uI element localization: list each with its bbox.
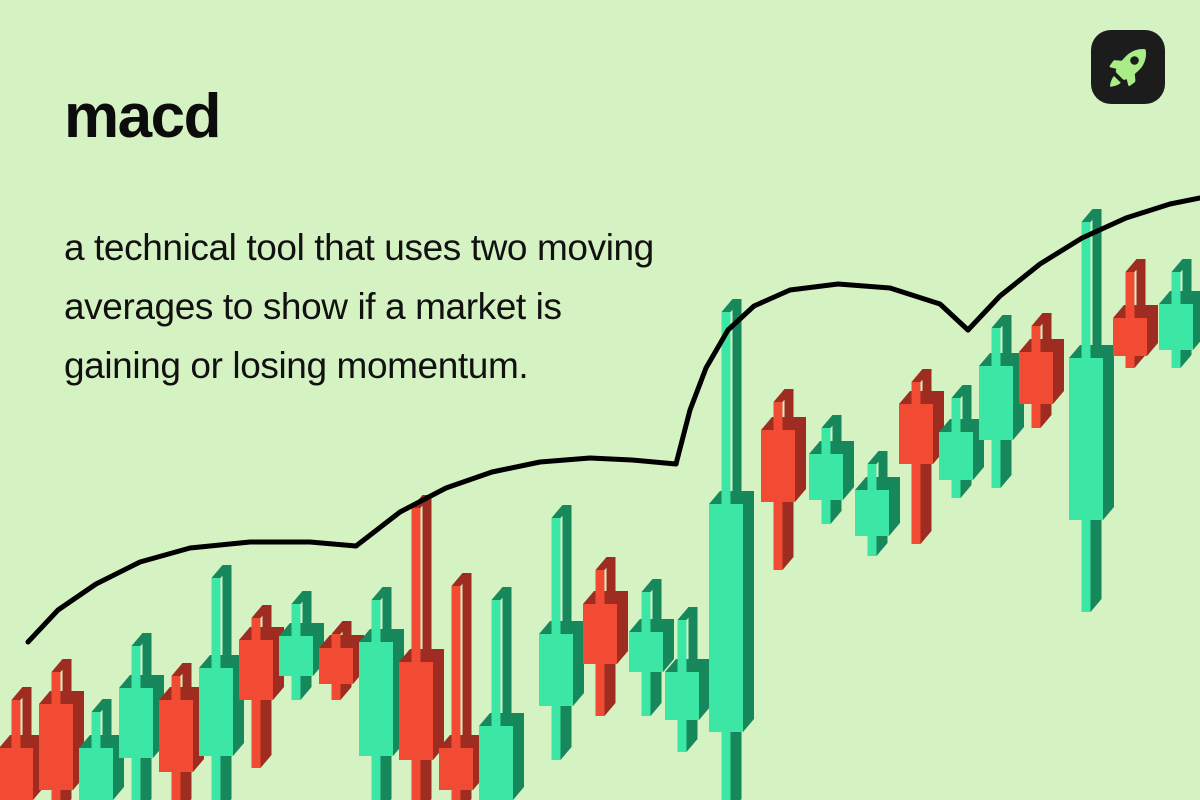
candle-face	[761, 430, 795, 502]
candle-face	[212, 756, 221, 800]
candle-face	[52, 672, 61, 704]
candle-face	[159, 700, 193, 772]
candle-face	[573, 621, 584, 706]
candle-face	[0, 748, 33, 800]
candle-face	[1082, 520, 1091, 612]
candle-face	[332, 634, 341, 648]
candle-face	[912, 382, 921, 404]
candle-face	[399, 662, 433, 760]
candle-face	[552, 518, 561, 634]
candle-face	[665, 672, 699, 720]
candle-face	[1019, 352, 1053, 404]
candle-face	[642, 592, 651, 632]
candle-face	[132, 758, 141, 800]
candle-face	[439, 748, 473, 790]
candle-face	[372, 756, 381, 800]
candle-face	[172, 676, 181, 700]
candle-face	[678, 620, 687, 672]
candle-face	[722, 732, 731, 800]
candle-face	[39, 704, 73, 790]
candle-face	[252, 618, 261, 640]
candle-face	[12, 700, 21, 748]
candle-face	[1032, 326, 1041, 352]
candle-face	[513, 713, 524, 800]
candle-face	[822, 428, 831, 454]
candle-face	[1103, 345, 1114, 520]
candle-face	[1069, 358, 1103, 520]
candle-face	[979, 366, 1013, 440]
candle-face	[503, 587, 512, 713]
candle-face	[479, 726, 513, 800]
candle-face	[132, 646, 141, 688]
candle-face	[596, 570, 605, 604]
candle-face	[822, 500, 831, 524]
candle-face	[1126, 272, 1135, 318]
signal-line-segment	[356, 458, 676, 546]
candle-face	[678, 720, 687, 752]
candle-face	[795, 417, 806, 502]
candle-face	[412, 508, 421, 662]
candle-face	[332, 684, 341, 700]
candle-face	[452, 586, 461, 748]
candle-face	[899, 404, 933, 464]
candle-face	[952, 480, 961, 498]
candle-face	[172, 772, 181, 800]
candle-face	[423, 495, 432, 649]
candle-face	[412, 760, 421, 800]
candle-face	[1091, 507, 1102, 612]
candlestick-chart	[0, 0, 1200, 800]
candle-face	[319, 648, 353, 684]
candle-face	[709, 504, 743, 732]
candle-face	[79, 748, 113, 800]
candle-face	[292, 604, 301, 636]
candle-face	[52, 790, 61, 800]
candle-face	[1113, 318, 1147, 356]
candle-face	[563, 505, 572, 621]
candle-face	[868, 536, 877, 556]
candle-face	[774, 402, 783, 430]
candle-face	[629, 632, 663, 672]
candle-face	[809, 454, 843, 500]
candle-face	[223, 565, 232, 655]
candle-face	[452, 790, 461, 800]
candle-face	[596, 664, 605, 716]
rocket-icon	[1105, 44, 1151, 90]
candle-face	[372, 600, 381, 642]
candle-face	[912, 464, 921, 544]
candle-face	[1082, 222, 1091, 358]
brand-logo[interactable]	[1091, 30, 1165, 104]
candle-face	[463, 573, 472, 735]
candle-face	[939, 432, 973, 480]
candle-face	[539, 634, 573, 706]
candle-face	[492, 600, 501, 726]
candle-face	[992, 328, 1001, 366]
candle-face	[855, 490, 889, 536]
candle-face	[642, 672, 651, 716]
candle-face	[119, 688, 153, 758]
candle-face	[199, 668, 233, 756]
candle-face	[1032, 404, 1041, 428]
candle-face	[252, 700, 261, 768]
candle-face	[433, 649, 444, 760]
candle-face	[1159, 304, 1193, 350]
candle-face	[292, 676, 301, 700]
candle-face	[1172, 350, 1181, 368]
candle-face	[552, 706, 561, 760]
candle-face	[279, 636, 313, 676]
candle-face	[992, 440, 1001, 488]
candle-face	[868, 464, 877, 490]
candle-face	[774, 502, 783, 570]
candle-face	[239, 640, 273, 700]
candle-face	[212, 578, 221, 668]
candle-face	[952, 398, 961, 432]
candle-face	[583, 604, 617, 664]
candle-face	[1126, 356, 1135, 368]
candle-face	[921, 451, 932, 544]
infographic-card: macd a technical tool that uses two movi…	[0, 0, 1200, 800]
candle-face	[743, 491, 754, 732]
candle-face	[1172, 272, 1181, 304]
candle-group	[0, 209, 1200, 800]
candle-face	[92, 712, 101, 748]
candle-face	[359, 642, 393, 756]
